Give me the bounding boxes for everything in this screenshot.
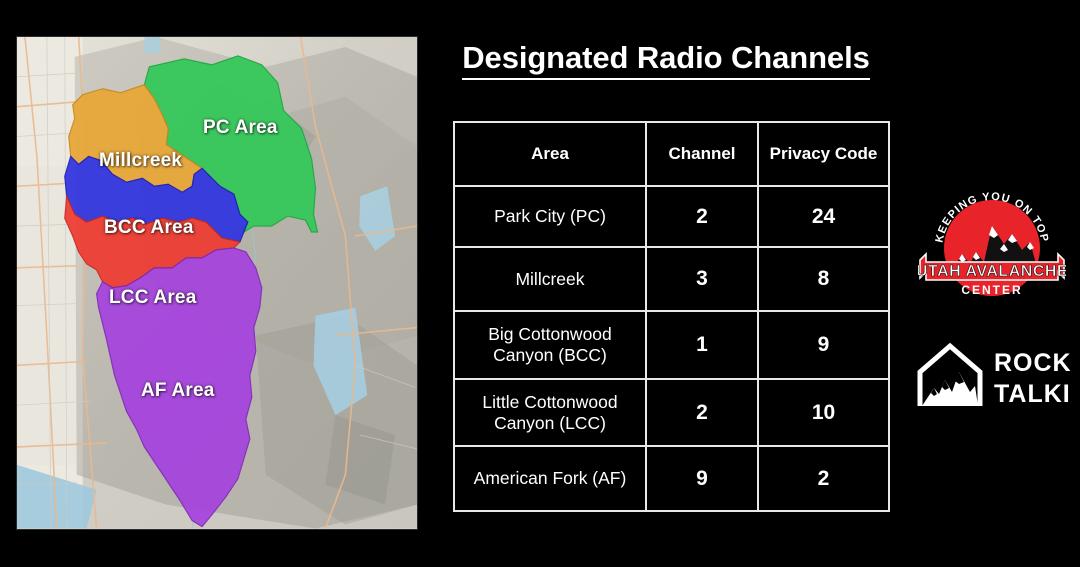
cell-channel: 3: [646, 247, 758, 311]
cell-channel: 9: [646, 446, 758, 511]
rocky-talkie-logo-icon: ROCKY TALKIE: [912, 334, 1072, 412]
rocky-talkie-line2: TALKIE: [994, 380, 1072, 408]
cell-channel: 2: [646, 379, 758, 446]
cell-area: Park City (PC): [454, 186, 646, 247]
cell-area: Little Cottonwood Canyon (LCC): [454, 379, 646, 446]
cell-channel: 1: [646, 311, 758, 379]
cell-privacy-code: 2: [758, 446, 889, 511]
page-title: Designated Radio Channels: [453, 40, 879, 76]
rocky-talkie-logo: ROCKY TALKIE: [912, 334, 1072, 412]
cell-privacy-code: 9: [758, 311, 889, 379]
cell-channel: 2: [646, 186, 758, 247]
cell-area: Millcreek: [454, 247, 646, 311]
column-header-channel: Channel: [646, 122, 758, 186]
cell-area-line1: Little Cottonwood: [482, 392, 617, 412]
forecast-zones-map[interactable]: PC Area Millcreek BCC Area LCC Area AF A…: [16, 36, 418, 530]
table-header-row: Area Channel Privacy Code: [454, 122, 889, 186]
slide-root: PC Area Millcreek BCC Area LCC Area AF A…: [0, 0, 1080, 567]
column-header-area: Area: [454, 122, 646, 186]
uac-sub-text: CENTER: [961, 283, 1022, 297]
radio-channel-table: Area Channel Privacy Code Park City (PC)…: [453, 121, 890, 512]
table-row: Big Cottonwood Canyon (BCC) 1 9: [454, 311, 889, 379]
map-zone-overlays: [17, 37, 417, 529]
cell-area-line2: Canyon (LCC): [494, 413, 606, 433]
uac-logo-icon: KEEPING YOU ON TOP UTAH AVALANCHE CENTER: [918, 186, 1066, 298]
cell-area-line1: Big Cottonwood: [488, 324, 612, 344]
column-header-privacy-code: Privacy Code: [758, 122, 889, 186]
cell-area: American Fork (AF): [454, 446, 646, 511]
page-title-text: Designated Radio Channels: [462, 40, 869, 80]
cell-privacy-code: 10: [758, 379, 889, 446]
cell-area-line2: Canyon (BCC): [493, 345, 607, 365]
cell-privacy-code: 8: [758, 247, 889, 311]
table-row: Millcreek 3 8: [454, 247, 889, 311]
utah-avalanche-center-logo: KEEPING YOU ON TOP UTAH AVALANCHE CENTER: [918, 186, 1066, 298]
table-row: American Fork (AF) 9 2: [454, 446, 889, 511]
table-row: Park City (PC) 2 24: [454, 186, 889, 247]
uac-banner-text: UTAH AVALANCHE: [918, 263, 1066, 280]
table-row: Little Cottonwood Canyon (LCC) 2 10: [454, 379, 889, 446]
cell-area: Big Cottonwood Canyon (BCC): [454, 311, 646, 379]
cell-privacy-code: 24: [758, 186, 889, 247]
rocky-talkie-line1: ROCKY: [994, 349, 1072, 377]
